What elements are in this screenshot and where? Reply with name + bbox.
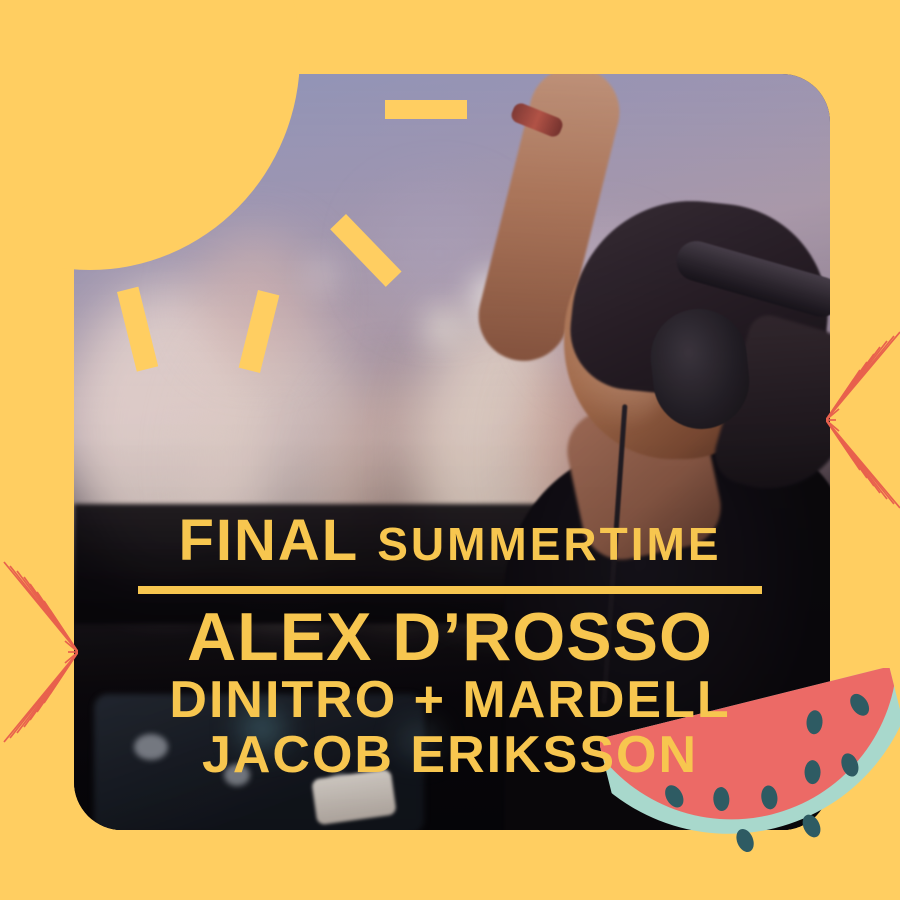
headline-divider	[138, 586, 762, 594]
poster-canvas: FINAL SUMMERTIME ALEX D’ROSSO DINITRO + …	[0, 0, 900, 900]
lineup-support-1: DINITRO + MARDELL	[0, 673, 900, 728]
headline-secondary: SUMMERTIME	[377, 521, 721, 567]
sun-ray-icon	[385, 100, 467, 119]
poster-text-block: FINAL SUMMERTIME ALEX D’ROSSO DINITRO + …	[0, 512, 900, 783]
lineup-headliner: ALEX D’ROSSO	[0, 602, 900, 673]
headline: FINAL SUMMERTIME	[0, 512, 900, 570]
lineup-support-2: JACOB ERIKSSON	[0, 728, 900, 783]
headline-primary: FINAL	[178, 512, 359, 570]
